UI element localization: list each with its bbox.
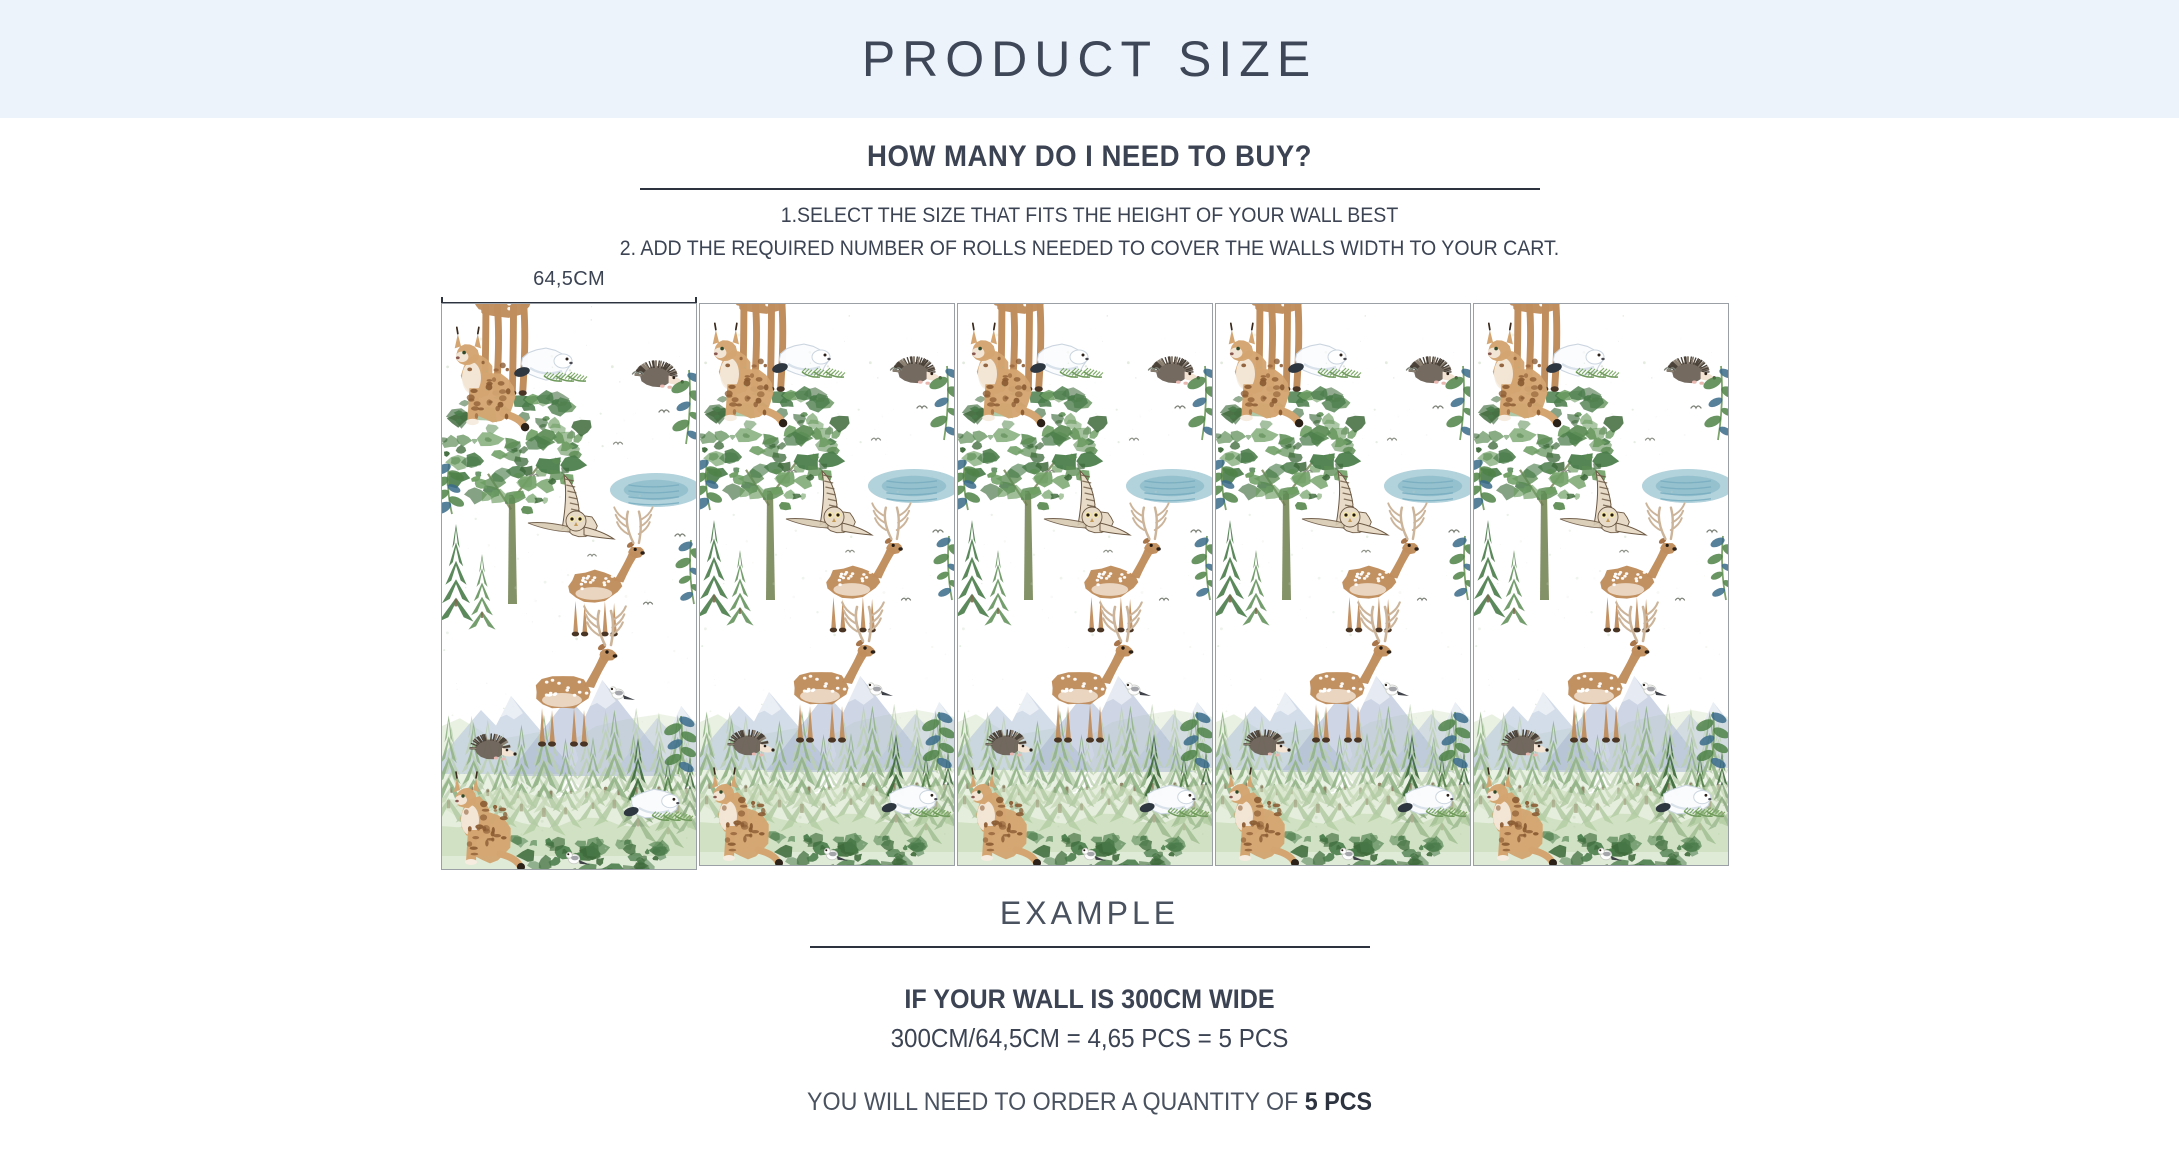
wallpaper-pattern-artwork <box>700 304 954 865</box>
example-wall-width: IF YOUR WALL IS 300CM WIDE <box>76 984 2102 1015</box>
intro-divider <box>640 188 1540 190</box>
example-conclusion-prefix: YOU WILL NEED TO ORDER A QUANTITY OF <box>807 1088 1305 1116</box>
wallpaper-panel-5[interactable] <box>1473 303 1729 866</box>
wallpaper-panel-4[interactable] <box>1215 303 1471 866</box>
wallpaper-pattern-artwork <box>958 304 1212 865</box>
example-section: EXAMPLE IF YOUR WALL IS 300CM WIDE 300CM… <box>0 895 2179 1117</box>
wallpaper-panel-2[interactable] <box>699 303 955 866</box>
roll-width-label: 64,5CM <box>441 268 697 291</box>
wallpaper-panel-3[interactable] <box>957 303 1213 866</box>
page-header: PRODUCT SIZE <box>0 0 2179 118</box>
example-conclusion-quantity: 5 PCS <box>1305 1088 1372 1116</box>
wallpaper-pattern-artwork <box>1474 304 1728 865</box>
example-title: EXAMPLE <box>0 895 2179 932</box>
intro-section: HOW MANY DO I NEED TO BUY? 1.SELECT THE … <box>0 118 2179 261</box>
example-divider <box>810 946 1370 948</box>
example-calculation: 300CM/64,5CM = 4,65 PCS = 5 PCS <box>76 1023 2102 1054</box>
intro-heading: HOW MANY DO I NEED TO BUY? <box>87 140 2092 174</box>
wallpaper-panel-row <box>441 303 1729 870</box>
wallpaper-pattern-artwork <box>1216 304 1470 865</box>
wallpaper-pattern-artwork <box>442 304 696 869</box>
page-title: PRODUCT SIZE <box>862 30 1317 88</box>
wallpaper-panel-1[interactable] <box>441 303 697 870</box>
intro-step-1: 1.SELECT THE SIZE THAT FITS THE HEIGHT O… <box>76 204 2102 228</box>
example-conclusion: YOU WILL NEED TO ORDER A QUANTITY OF 5 P… <box>76 1088 2102 1117</box>
intro-step-2: 2. ADD THE REQUIRED NUMBER OF ROLLS NEED… <box>76 237 2102 261</box>
